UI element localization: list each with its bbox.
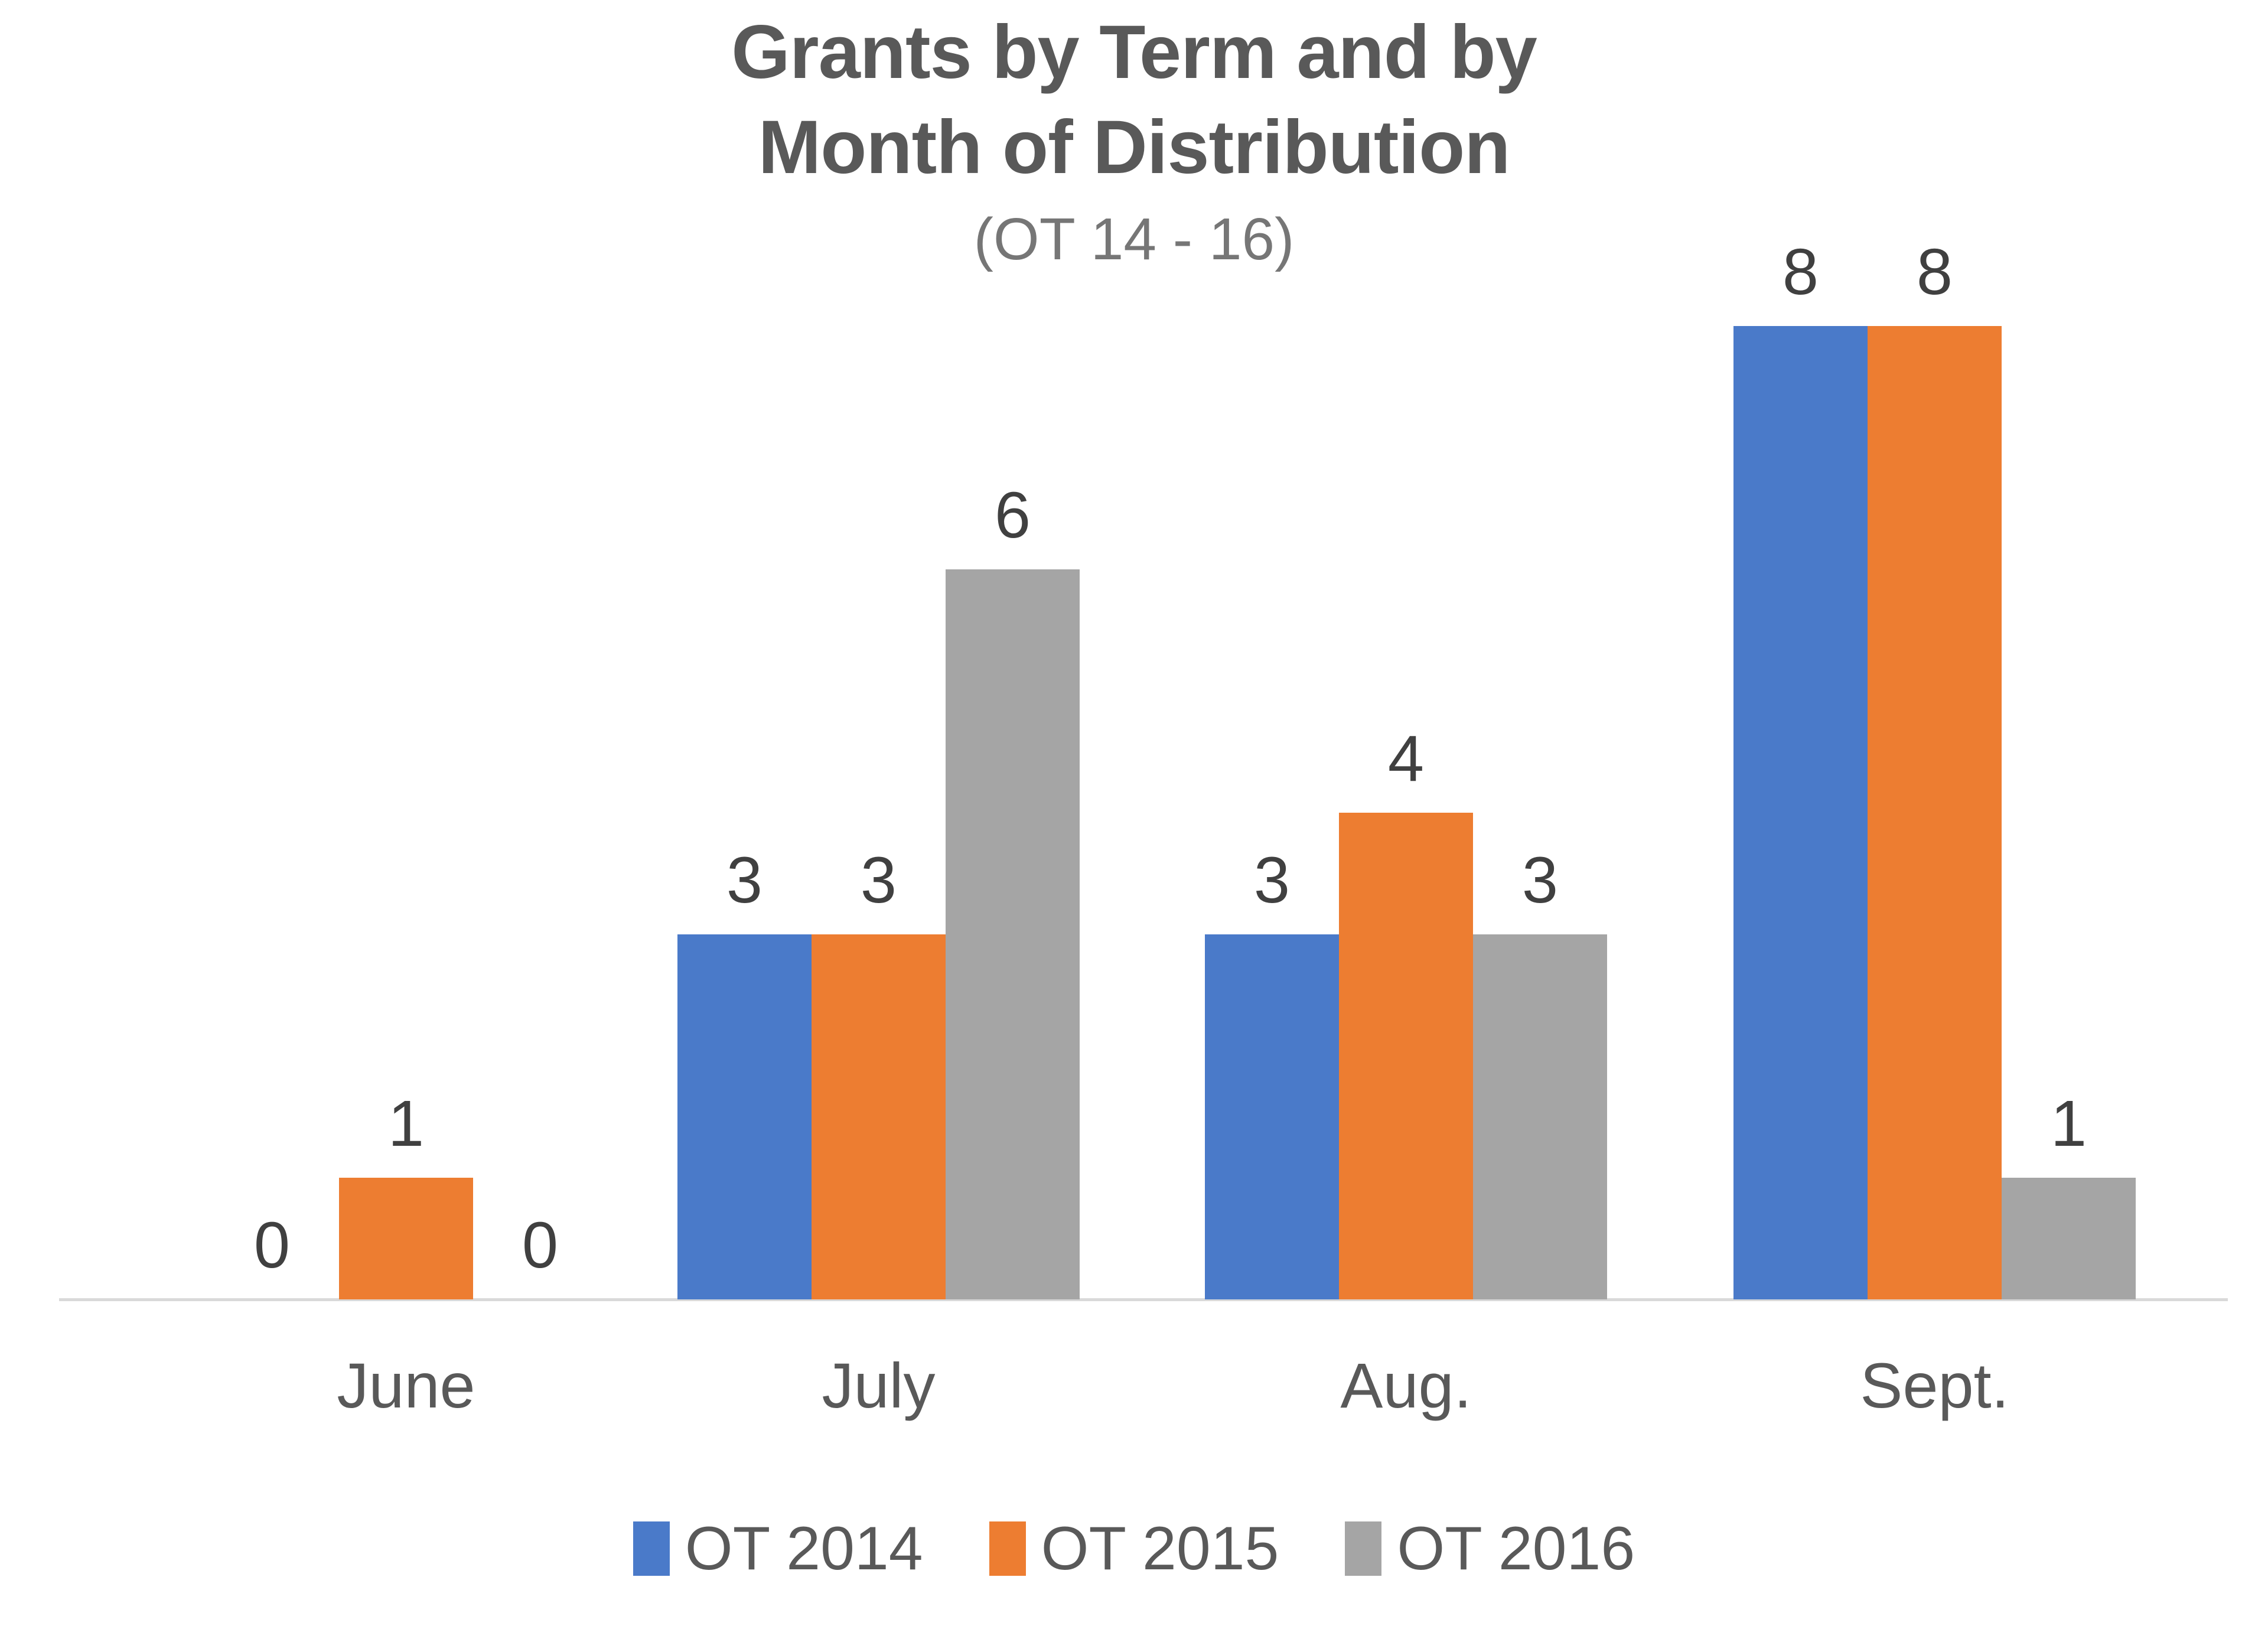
x-axis-label: June (205, 1345, 607, 1425)
bar[interactable] (2002, 1178, 2136, 1299)
bar[interactable] (677, 934, 812, 1299)
bar[interactable] (1868, 326, 2002, 1299)
bar-value-label: 3 (677, 848, 812, 913)
legend-label: OT 2016 (1397, 1518, 1635, 1579)
bar-group: 343 (1205, 295, 1607, 1299)
chart-legend: OT 2014OT 2015OT 2016 (0, 1518, 2268, 1579)
bar-value-label: 1 (339, 1091, 473, 1156)
x-axis-label: July (677, 1345, 1080, 1425)
bar-value-label: 3 (1205, 848, 1339, 913)
bar[interactable] (1473, 934, 1607, 1299)
legend-swatch-icon (1345, 1521, 1381, 1576)
chart-container: Grants by Term and by Month of Distribut… (0, 0, 2268, 1652)
bar-group: 881 (1733, 295, 2136, 1299)
bar-slot: 1 (339, 295, 473, 1299)
bar[interactable] (1339, 813, 1473, 1299)
bar-value-label: 0 (205, 1213, 339, 1278)
x-axis-label: Sept. (1733, 1345, 2136, 1425)
bar-value-label: 8 (1733, 240, 1868, 305)
bar-slot: 3 (677, 295, 812, 1299)
x-axis-label: Aug. (1205, 1345, 1607, 1425)
bar-value-label: 8 (1868, 240, 2002, 305)
bar-slot: 0 (473, 295, 607, 1299)
bar-value-label: 3 (812, 848, 946, 913)
bar-slot: 3 (1473, 295, 1607, 1299)
bar[interactable] (1733, 326, 1868, 1299)
legend-item[interactable]: OT 2015 (989, 1518, 1279, 1579)
bar-slot: 3 (1205, 295, 1339, 1299)
bar-value-label: 1 (2002, 1091, 2136, 1156)
bar-slot: 8 (1733, 295, 1868, 1299)
legend-label: OT 2014 (685, 1518, 923, 1579)
plot-area: 010336343881 JuneJulyAug.Sept. (0, 0, 2268, 1652)
legend-swatch-icon (633, 1521, 670, 1576)
bar-group: 336 (677, 295, 1080, 1299)
legend-item[interactable]: OT 2014 (633, 1518, 923, 1579)
bar-slot: 3 (812, 295, 946, 1299)
bar-slot: 0 (205, 295, 339, 1299)
bar-value-label: 0 (473, 1213, 607, 1278)
bar-group: 010 (205, 295, 607, 1299)
bar-value-label: 6 (946, 483, 1080, 548)
bar[interactable] (1205, 934, 1339, 1299)
bar-value-label: 3 (1473, 848, 1607, 913)
bar-value-label: 4 (1339, 726, 1473, 791)
bar-slot: 1 (2002, 295, 2136, 1299)
legend-label: OT 2015 (1041, 1518, 1279, 1579)
bar[interactable] (812, 934, 946, 1299)
bar-slot: 6 (946, 295, 1080, 1299)
bar-slot: 8 (1868, 295, 2002, 1299)
legend-swatch-icon (989, 1521, 1026, 1576)
bar[interactable] (946, 569, 1080, 1299)
bar-slot: 4 (1339, 295, 1473, 1299)
bar[interactable] (339, 1178, 473, 1299)
legend-item[interactable]: OT 2016 (1345, 1518, 1635, 1579)
